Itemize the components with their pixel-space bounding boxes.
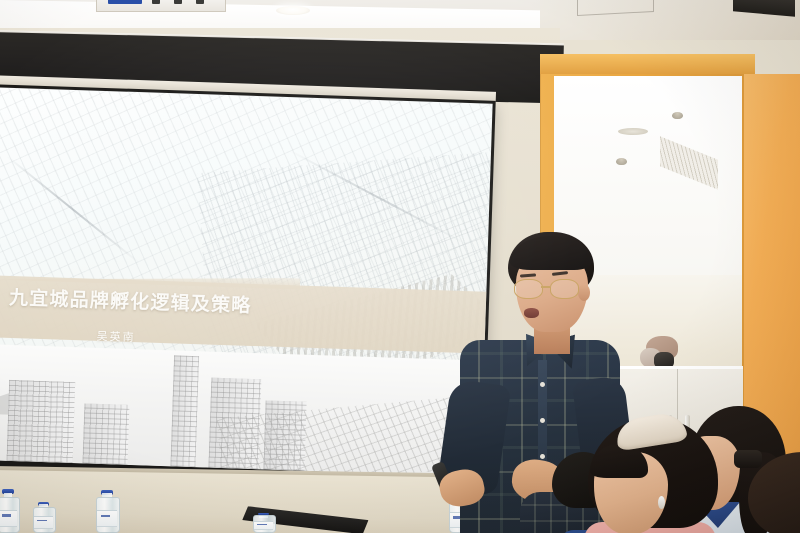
water-bottle[interactable] bbox=[253, 513, 274, 533]
power-port-icon bbox=[196, 0, 204, 4]
projection-screen: 九宜城品牌孵化逻辑及策略 吴英南 bbox=[0, 84, 496, 483]
water-bottle[interactable] bbox=[96, 490, 118, 533]
eyeglasses-icon bbox=[514, 279, 586, 297]
sprinkler-icon bbox=[672, 112, 683, 119]
decorative-sculpture bbox=[640, 336, 684, 370]
attendee-right bbox=[748, 452, 800, 533]
earring bbox=[658, 496, 665, 509]
downlight-icon bbox=[276, 6, 310, 15]
slide-cityscape-photo bbox=[0, 344, 484, 476]
presentation-scene: 九宜城品牌孵化逻辑及策略 吴英南 bbox=[0, 0, 800, 533]
corridor-recessed-light bbox=[618, 128, 648, 135]
water-bottle[interactable] bbox=[0, 489, 18, 533]
water-bottle[interactable] bbox=[33, 502, 54, 533]
sprinkler-icon bbox=[616, 158, 627, 165]
slide-surface: 九宜城品牌孵化逻辑及策略 吴英南 bbox=[0, 87, 493, 477]
slide-subtitle: 吴英南 bbox=[96, 328, 136, 345]
open-door-panel[interactable] bbox=[744, 74, 800, 458]
vga-port-icon bbox=[108, 0, 142, 4]
door-header bbox=[540, 54, 755, 74]
usb-port-icon bbox=[152, 0, 160, 4]
attendee-headband bbox=[588, 418, 738, 533]
network-port-icon bbox=[174, 0, 182, 4]
